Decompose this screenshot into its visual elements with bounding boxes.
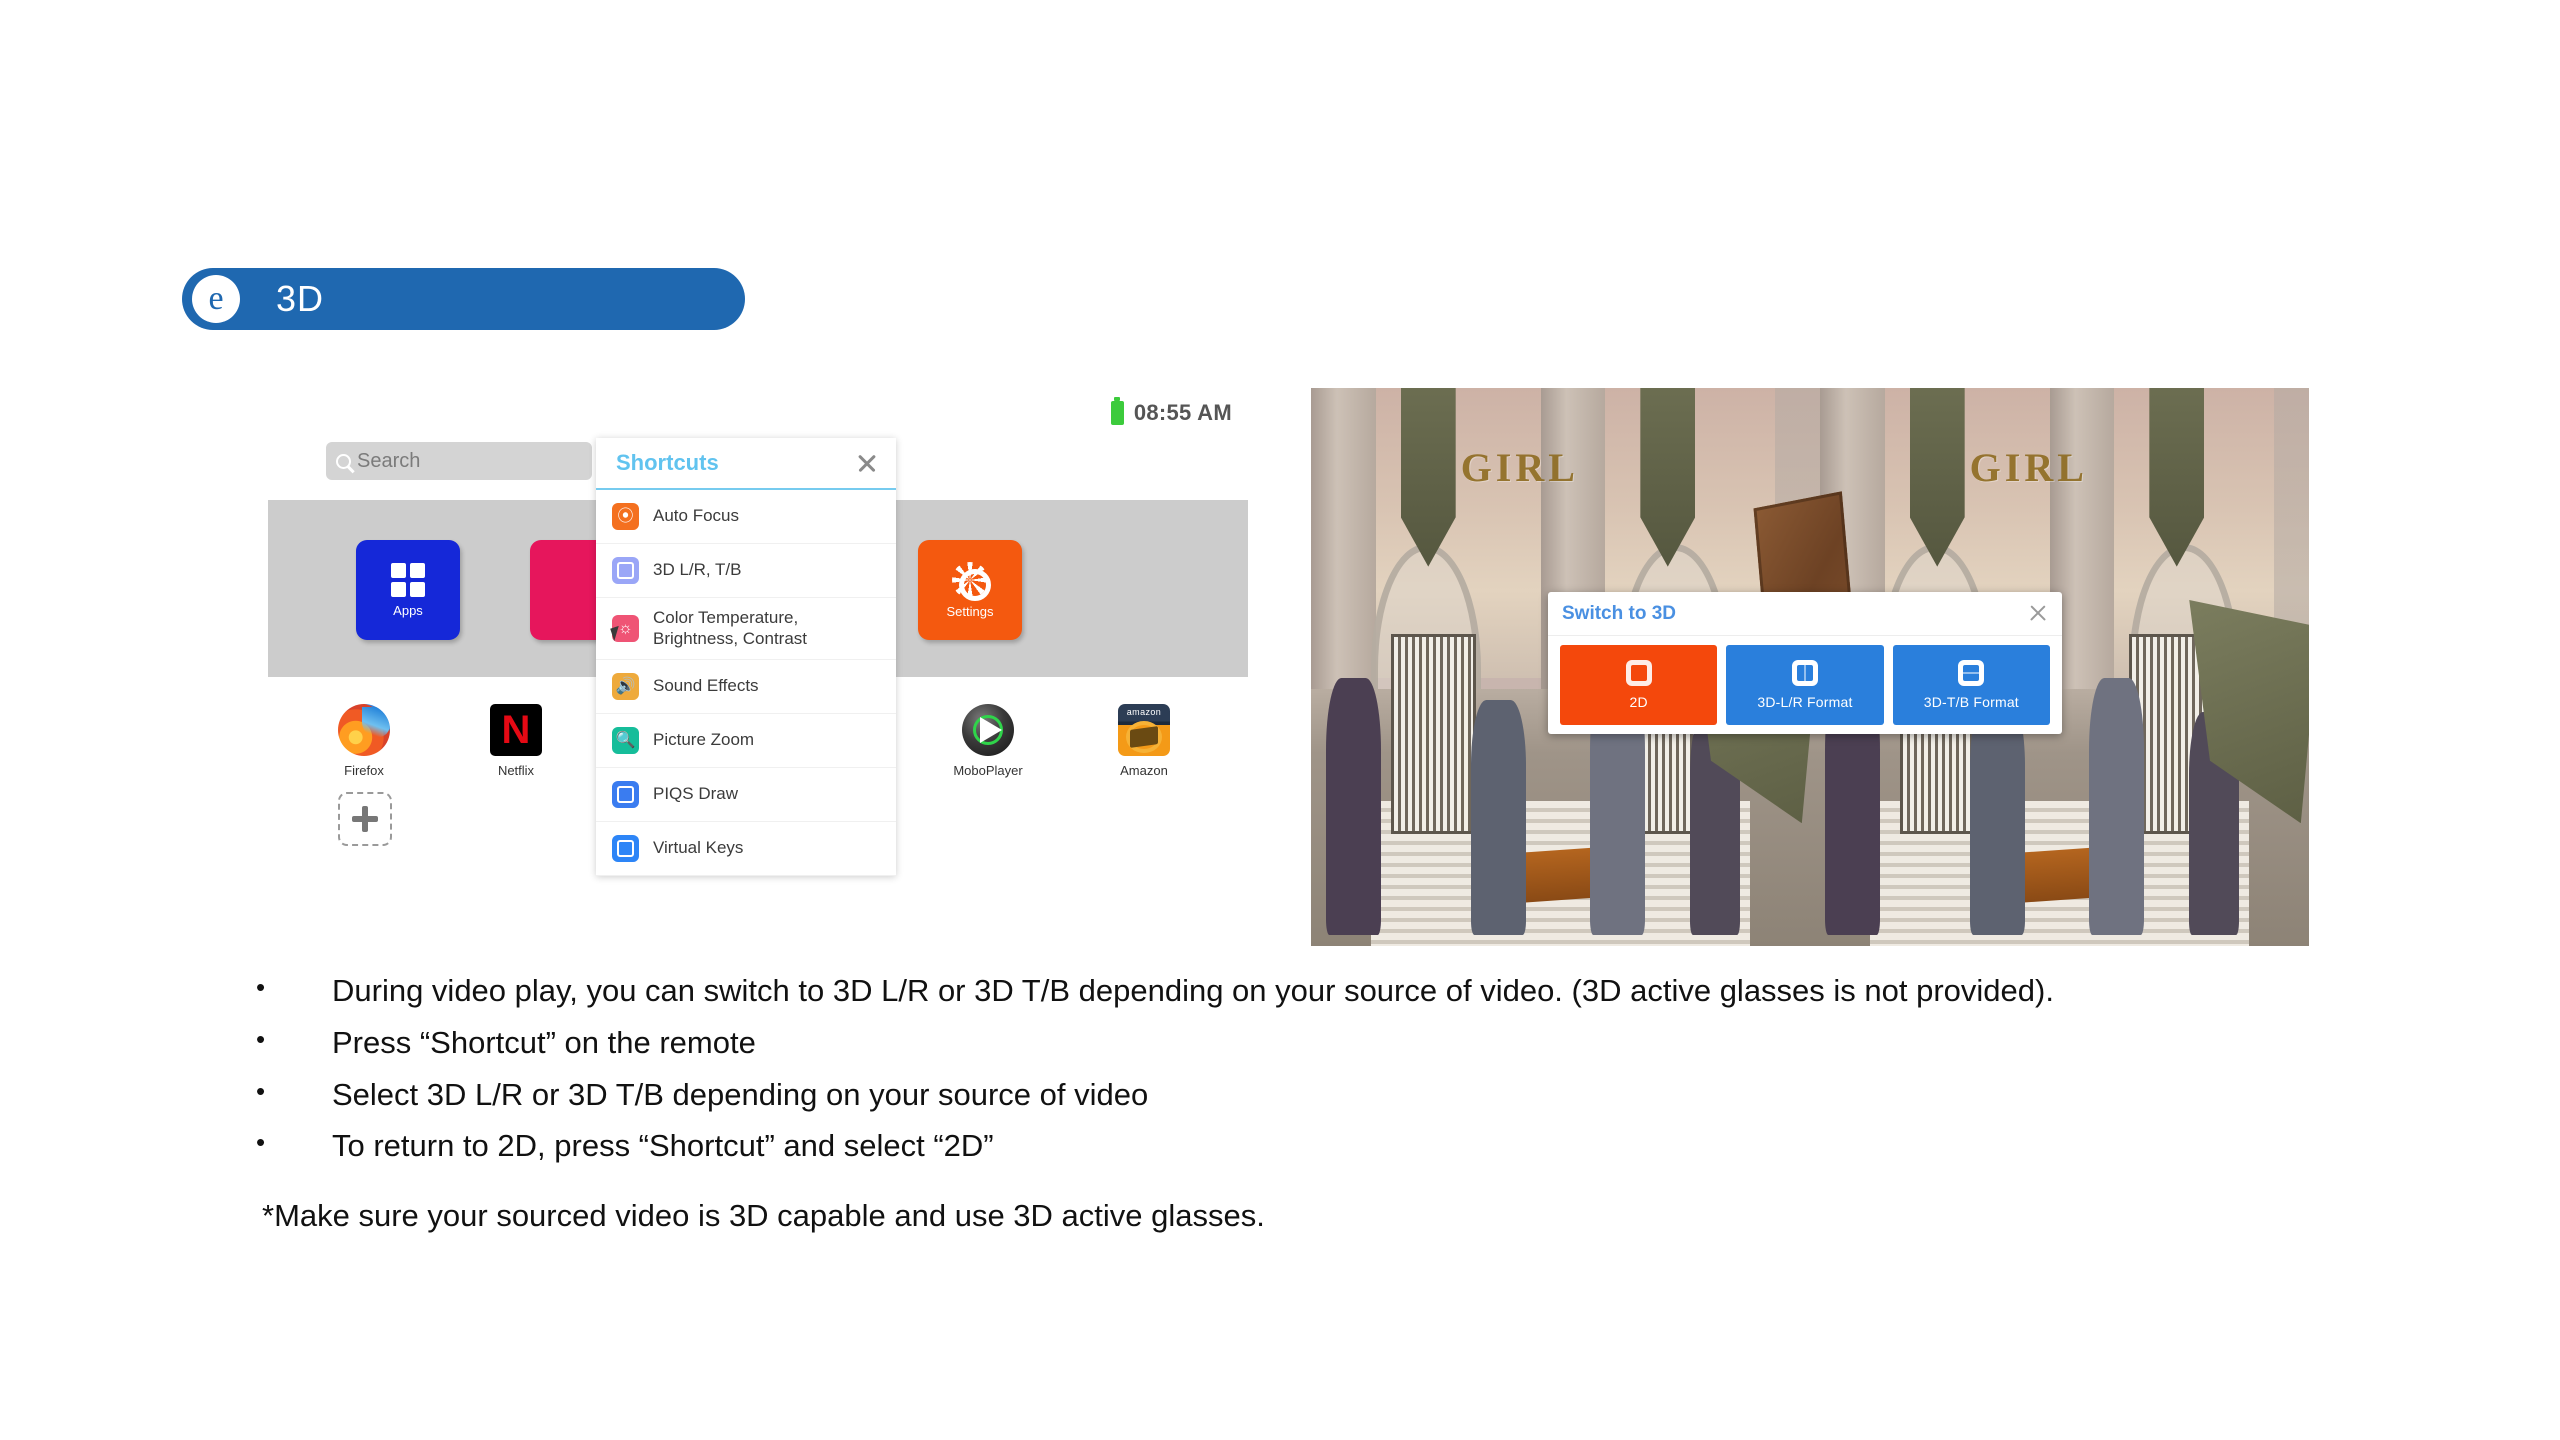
close-icon[interactable] (2028, 603, 2048, 623)
list-item-text: Select 3D L/R or 3D T/B depending on you… (332, 1074, 1148, 1117)
shortcut-label: 3D L/R, T/B (653, 560, 742, 580)
dialog-title: Switch to 3D (1562, 603, 1676, 625)
page-header: e 3D (182, 268, 745, 330)
bullet-marker: • (256, 1125, 332, 1168)
bullet-marker: • (256, 1022, 332, 1065)
shortcut-label: PIQS Draw (653, 784, 738, 804)
dialog-body: 2D 3D-L/R Format 3D-T/B Format (1548, 636, 2062, 725)
plus-icon (352, 806, 378, 832)
app-firefox-label: Firefox (316, 763, 412, 778)
app-netflix[interactable]: Netflix (468, 704, 564, 778)
scene-sign-text: GIRL (1461, 444, 1579, 491)
bullet-marker: • (256, 970, 332, 1013)
tile-apps-label: Apps (393, 603, 423, 618)
instruction-list: • During video play, you can switch to 3… (256, 970, 2376, 1177)
shortcut-item-color-temperature[interactable]: ☼ Color Temperature, Brightness, Contras… (596, 598, 896, 660)
app-moboplayer[interactable]: MoboPlayer (940, 704, 1036, 778)
button-3d-tb[interactable]: 3D-T/B Format (1893, 645, 2050, 725)
app-amazon-label: Amazon (1096, 763, 1192, 778)
app-firefox[interactable]: Firefox (316, 704, 412, 778)
shortcuts-header: Shortcuts (596, 438, 896, 490)
dialog-header: Switch to 3D (1548, 592, 2062, 636)
scene-sign-text: GIRL (1970, 444, 2088, 491)
3d-tb-icon (1958, 660, 1984, 686)
magnifier-icon: 🔍 (612, 727, 639, 754)
3d-lr-icon (1792, 660, 1818, 686)
button-2d-label: 2D (1630, 694, 1648, 710)
close-icon[interactable] (856, 452, 878, 474)
button-3d-lr[interactable]: 3D-L/R Format (1726, 645, 1883, 725)
shortcut-item-sound-effects[interactable]: 🔊 Sound Effects (596, 660, 896, 714)
virtual-keys-icon (612, 835, 639, 862)
button-3d-lr-label: 3D-L/R Format (1757, 694, 1852, 710)
2d-icon (1626, 660, 1652, 686)
battery-icon (1111, 401, 1124, 425)
speaker-icon: 🔊 (612, 673, 639, 700)
3d-format-icon (612, 557, 639, 584)
shortcuts-title: Shortcuts (616, 450, 719, 476)
list-item-text: To return to 2D, press “Shortcut” and se… (332, 1125, 994, 1168)
draw-icon (612, 781, 639, 808)
moboplayer-icon (962, 704, 1014, 756)
app-netflix-label: Netflix (468, 763, 564, 778)
amazon-icon (1118, 704, 1170, 756)
netflix-icon (490, 704, 542, 756)
list-item-text: During video play, you can switch to 3D … (332, 970, 2054, 1013)
shortcut-item-picture-zoom[interactable]: 🔍 Picture Zoom (596, 714, 896, 768)
shortcut-item-auto-focus[interactable]: ⦿ Auto Focus (596, 490, 896, 544)
search-icon (336, 454, 351, 469)
switch-to-3d-dialog: Switch to 3D 2D 3D-L/R Format 3D-T/B For… (1548, 592, 2062, 734)
bullet-marker: • (256, 1074, 332, 1117)
auto-focus-icon: ⦿ (612, 503, 639, 530)
status-bar: 08:55 AM (1111, 400, 1232, 426)
apps-grid-icon (391, 563, 425, 597)
shortcuts-panel: Shortcuts ⦿ Auto Focus 3D L/R, T/B ☼ Col… (596, 438, 896, 876)
list-item: • Select 3D L/R or 3D T/B depending on y… (256, 1074, 2376, 1117)
list-item-text: Press “Shortcut” on the remote (332, 1022, 756, 1065)
button-2d[interactable]: 2D (1560, 645, 1717, 725)
app-amazon[interactable]: Amazon (1096, 704, 1192, 778)
shortcut-item-piqs-draw[interactable]: PIQS Draw (596, 768, 896, 822)
shortcut-label: Auto Focus (653, 506, 739, 526)
search-placeholder: Search (357, 450, 420, 473)
shortcut-label: Virtual Keys (653, 838, 743, 858)
list-item: • To return to 2D, press “Shortcut” and … (256, 1125, 2376, 1168)
shortcut-label: Sound Effects (653, 676, 759, 696)
shortcut-item-virtual-keys[interactable]: Virtual Keys (596, 822, 896, 876)
button-3d-tb-label: 3D-T/B Format (1924, 694, 2019, 710)
gear-icon (952, 562, 988, 598)
tile-settings[interactable]: Settings (918, 540, 1022, 640)
status-clock: 08:55 AM (1134, 400, 1232, 426)
shortcut-label: Picture Zoom (653, 730, 754, 750)
list-item: • Press “Shortcut” on the remote (256, 1022, 2376, 1065)
firefox-icon (338, 704, 390, 756)
slide-page: e 3D 08:55 AM Search Apps Settings (0, 0, 2560, 1440)
shortcut-label: Color Temperature, Brightness, Contrast (653, 608, 880, 648)
add-app-button[interactable] (338, 792, 392, 846)
page-title: 3D (276, 278, 324, 320)
header-badge-letter: e (192, 275, 240, 323)
tile-apps[interactable]: Apps (356, 540, 460, 640)
footnote: *Make sure your sourced video is 3D capa… (262, 1198, 1265, 1234)
tile-settings-label: Settings (947, 604, 994, 619)
list-item: • During video play, you can switch to 3… (256, 970, 2376, 1013)
app-moboplayer-label: MoboPlayer (940, 763, 1036, 778)
search-input[interactable]: Search (326, 442, 592, 480)
shortcut-item-3d-lr-tb[interactable]: 3D L/R, T/B (596, 544, 896, 598)
